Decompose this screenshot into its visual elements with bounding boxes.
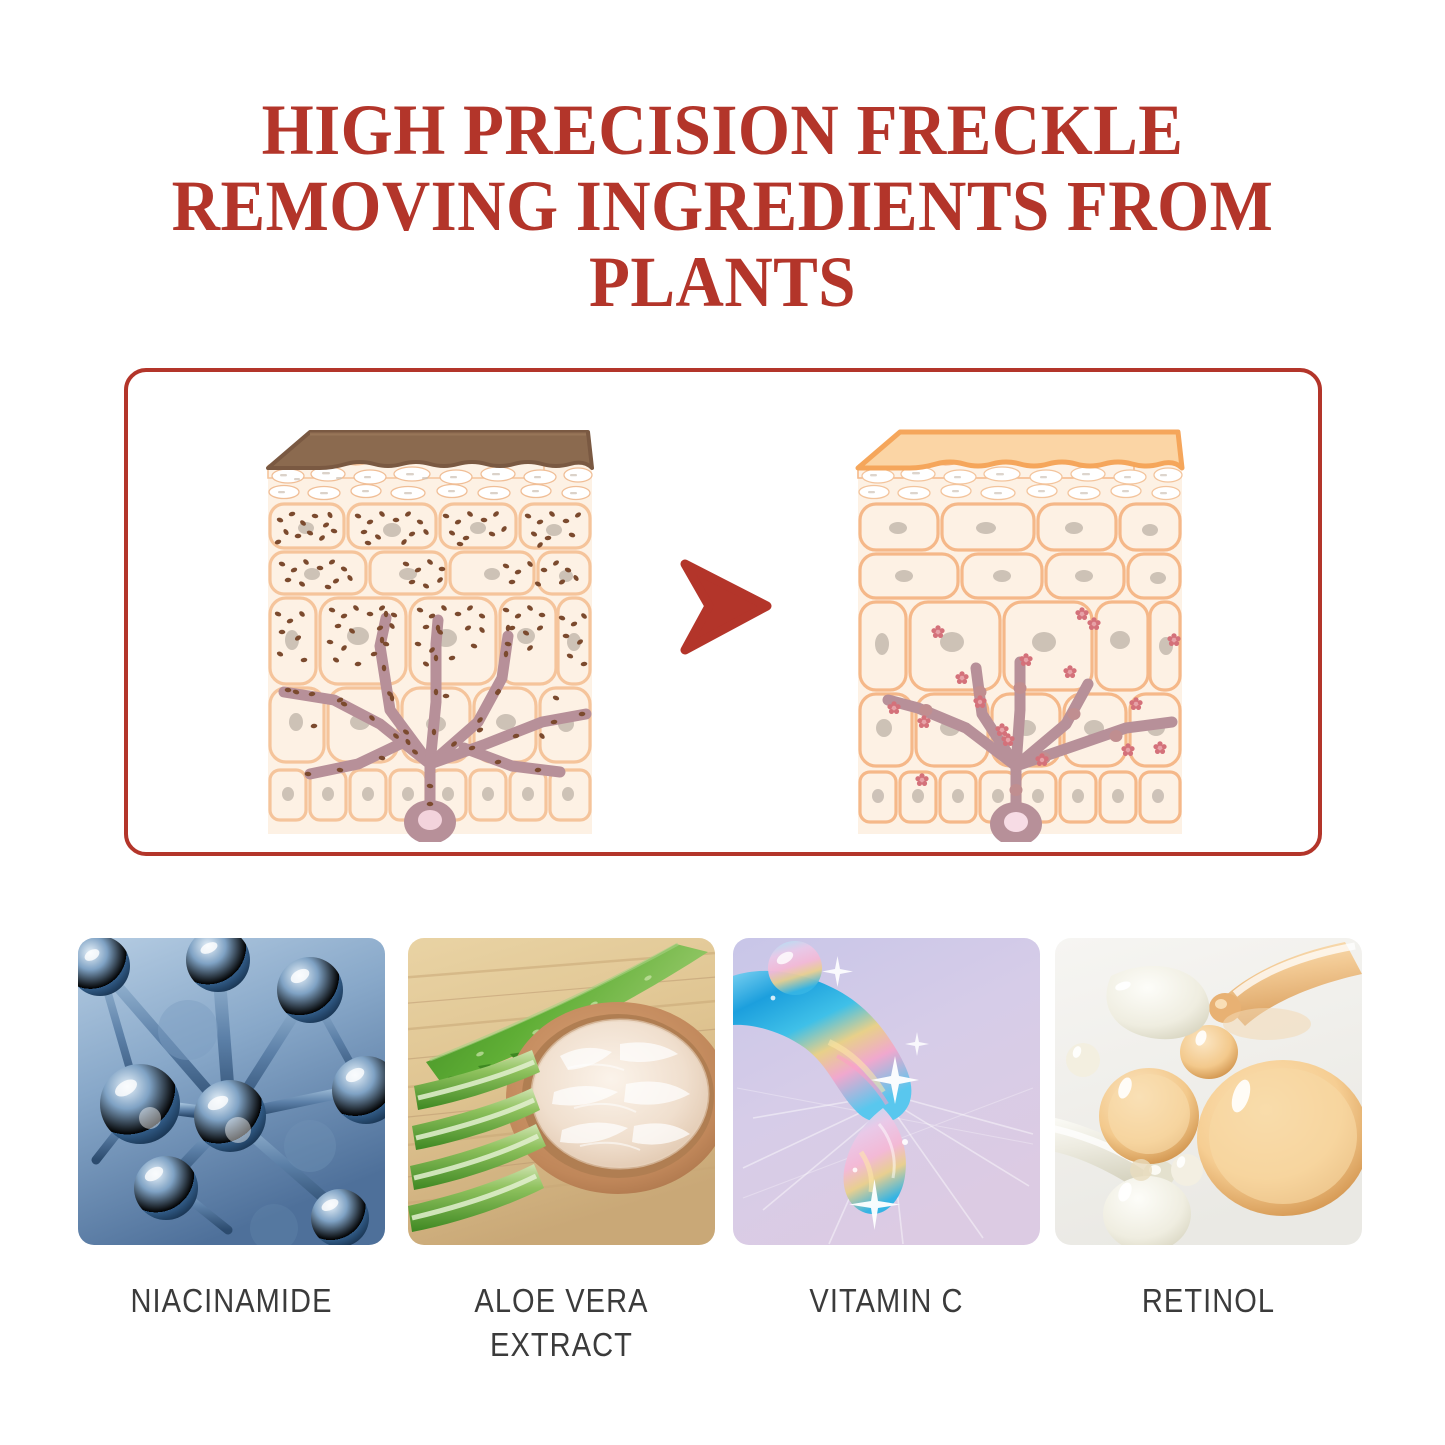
ingredient-list: NIACINAMIDE: [78, 938, 1366, 1358]
ingredient-card-retinol[interactable]: RETINOL: [1055, 938, 1362, 1323]
page-title: HIGH PRECISION FRECKLE REMOVING INGREDIE…: [90, 92, 1355, 320]
oil-drop-large: [1197, 1060, 1362, 1216]
ingredient-label: VITAMIN C: [751, 1279, 1021, 1323]
ingredient-label: ALOE VERA EXTRACT: [426, 1279, 696, 1367]
ingredient-card-aloe-vera-extract[interactable]: ALOE VERA EXTRACT: [408, 938, 715, 1367]
skin-diagram-before: [240, 392, 620, 842]
title-line-1: HIGH PRECISION FRECKLE: [134, 92, 1310, 168]
ingredient-label: RETINOL: [1073, 1279, 1343, 1323]
skin-surface-after: [858, 432, 1182, 468]
ingredient-card-niacinamide[interactable]: NIACINAMIDE: [78, 938, 385, 1323]
retinol-oil-drops-image: [1055, 938, 1362, 1245]
skin-surface-before: [268, 432, 592, 468]
aloe-vera-extract-image: [408, 938, 715, 1245]
right-arrow-icon: [653, 542, 803, 672]
niacinamide-molecule-image: [78, 938, 385, 1245]
title-line-2: REMOVING INGREDIENTS FROM: [134, 168, 1310, 244]
ingredient-card-vitamin-c[interactable]: VITAMIN C: [733, 938, 1040, 1323]
skin-diagram-after: [830, 392, 1210, 842]
ingredient-label: NIACINAMIDE: [96, 1279, 366, 1323]
vitamin-c-serum-drop-image: [733, 938, 1040, 1245]
oil-drop-medium-a: [1099, 1068, 1199, 1164]
skin-comparison-frame: [124, 368, 1322, 856]
title-line-3: PLANTS: [134, 244, 1310, 320]
